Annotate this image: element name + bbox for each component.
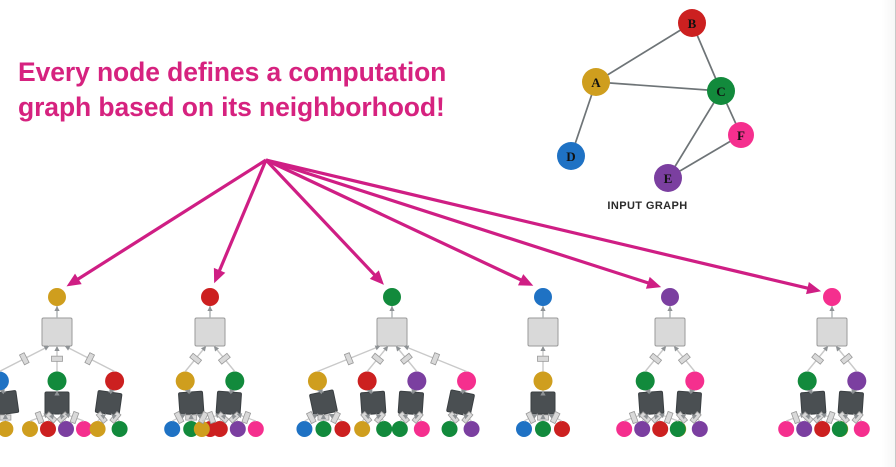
- aggregation-box-level1[interactable]: [377, 318, 407, 346]
- aggregation-box-level2[interactable]: [95, 390, 122, 415]
- message-tick-l1: [538, 356, 549, 361]
- comp-level1-node-A[interactable]: [308, 372, 327, 391]
- message-tick-l1: [85, 353, 95, 365]
- comp-leaf-node-B[interactable]: [334, 421, 350, 437]
- message-tick-l1: [431, 353, 440, 365]
- comp-level1-node-C[interactable]: [48, 372, 67, 391]
- message-tick-l2: [35, 411, 44, 423]
- comp-level1-node-B[interactable]: [358, 372, 377, 391]
- message-tick-l1: [678, 353, 690, 364]
- aggregation-box-level2[interactable]: [800, 391, 825, 415]
- comp-level1-node-E[interactable]: [407, 372, 426, 391]
- comp-level1-node-B[interactable]: [105, 372, 124, 391]
- aggregation-box-level2[interactable]: [638, 391, 663, 415]
- message-tick-l1: [19, 353, 29, 365]
- message-tick-l1: [400, 353, 412, 364]
- message-tick-l2: [629, 411, 638, 423]
- message-tick-l2: [70, 411, 79, 423]
- comp-root-node-B[interactable]: [201, 288, 219, 306]
- comp-leaf-node-A[interactable]: [0, 421, 13, 437]
- message-tick-l1: [190, 353, 202, 364]
- root-arrowhead: [54, 306, 59, 311]
- comp-leaf-node-A[interactable]: [22, 421, 38, 437]
- message-tick-l1: [218, 353, 230, 364]
- message-tick-l1: [650, 353, 662, 364]
- aggregation-box-level2[interactable]: [178, 391, 203, 415]
- aggregation-box-level2[interactable]: [838, 391, 863, 415]
- aggregation-box-level1[interactable]: [655, 318, 685, 346]
- root-arrowhead: [540, 306, 545, 311]
- message-tick-l1: [372, 353, 384, 364]
- comp-level1-node-A[interactable]: [534, 372, 553, 391]
- comp-level1-node-E[interactable]: [847, 372, 866, 391]
- aggregation-box-level2[interactable]: [447, 390, 475, 417]
- message-tick-l1: [840, 353, 852, 364]
- aggregation-box-level1[interactable]: [42, 318, 72, 346]
- comp-root-node-C[interactable]: [383, 288, 401, 306]
- aggregation-box-level1[interactable]: [817, 318, 847, 346]
- aggregation-box-level2[interactable]: [0, 390, 19, 415]
- message-tick-l1: [52, 356, 63, 361]
- message-tick-l2: [242, 411, 251, 423]
- comp-leaf-node-C[interactable]: [535, 421, 551, 437]
- aggregation-box-level2[interactable]: [398, 391, 423, 415]
- root-arrowhead: [667, 306, 672, 311]
- comp-leaf-node-D[interactable]: [164, 421, 180, 437]
- aggregation-box-level2[interactable]: [360, 391, 385, 415]
- comp-level1-node-F[interactable]: [685, 372, 704, 391]
- root-arrowhead: [389, 306, 394, 311]
- comp-leaf-node-C[interactable]: [315, 421, 331, 437]
- comp-leaf-node-D[interactable]: [296, 421, 312, 437]
- comp-root-node-F[interactable]: [823, 288, 841, 306]
- aggregation-box-level1[interactable]: [528, 318, 558, 346]
- comp-level1-node-A[interactable]: [176, 372, 195, 391]
- comp-leaf-node-D[interactable]: [516, 421, 532, 437]
- comp-level1-node-C[interactable]: [636, 372, 655, 391]
- comp-leaf-node-F[interactable]: [248, 421, 264, 437]
- root-arrowhead: [207, 306, 212, 311]
- comp-leaf-node-F[interactable]: [616, 421, 632, 437]
- message-tick-l1: [344, 353, 353, 365]
- comp-leaf-node-F[interactable]: [778, 421, 794, 437]
- aggregation-box-level2[interactable]: [676, 391, 701, 415]
- agg1-arrowhead: [540, 346, 545, 351]
- comp-root-node-A[interactable]: [48, 288, 66, 306]
- comp-level1-node-C[interactable]: [225, 372, 244, 391]
- comp-leaf-node-A[interactable]: [194, 421, 210, 437]
- comp-level1-node-C[interactable]: [798, 372, 817, 391]
- message-tick-l2: [791, 411, 800, 423]
- aggregation-box-level2[interactable]: [309, 390, 337, 417]
- agg1-arrowhead: [54, 346, 59, 351]
- message-tick-l2: [826, 411, 835, 423]
- comp-leaf-node-B[interactable]: [554, 421, 570, 437]
- comp-root-node-D[interactable]: [534, 288, 552, 306]
- message-tick-l1: [812, 353, 824, 364]
- root-arrowhead: [829, 306, 834, 311]
- slide-canvas: Every node defines a computation graph b…: [0, 0, 896, 467]
- comp-root-node-E[interactable]: [661, 288, 679, 306]
- comp-level1-node-F[interactable]: [457, 372, 476, 391]
- comp-level1-node-D[interactable]: [0, 372, 9, 391]
- computation-graphs: [0, 0, 896, 467]
- aggregation-box-level2[interactable]: [216, 391, 241, 415]
- message-tick-l2: [664, 411, 673, 423]
- aggregation-box-level1[interactable]: [195, 318, 225, 346]
